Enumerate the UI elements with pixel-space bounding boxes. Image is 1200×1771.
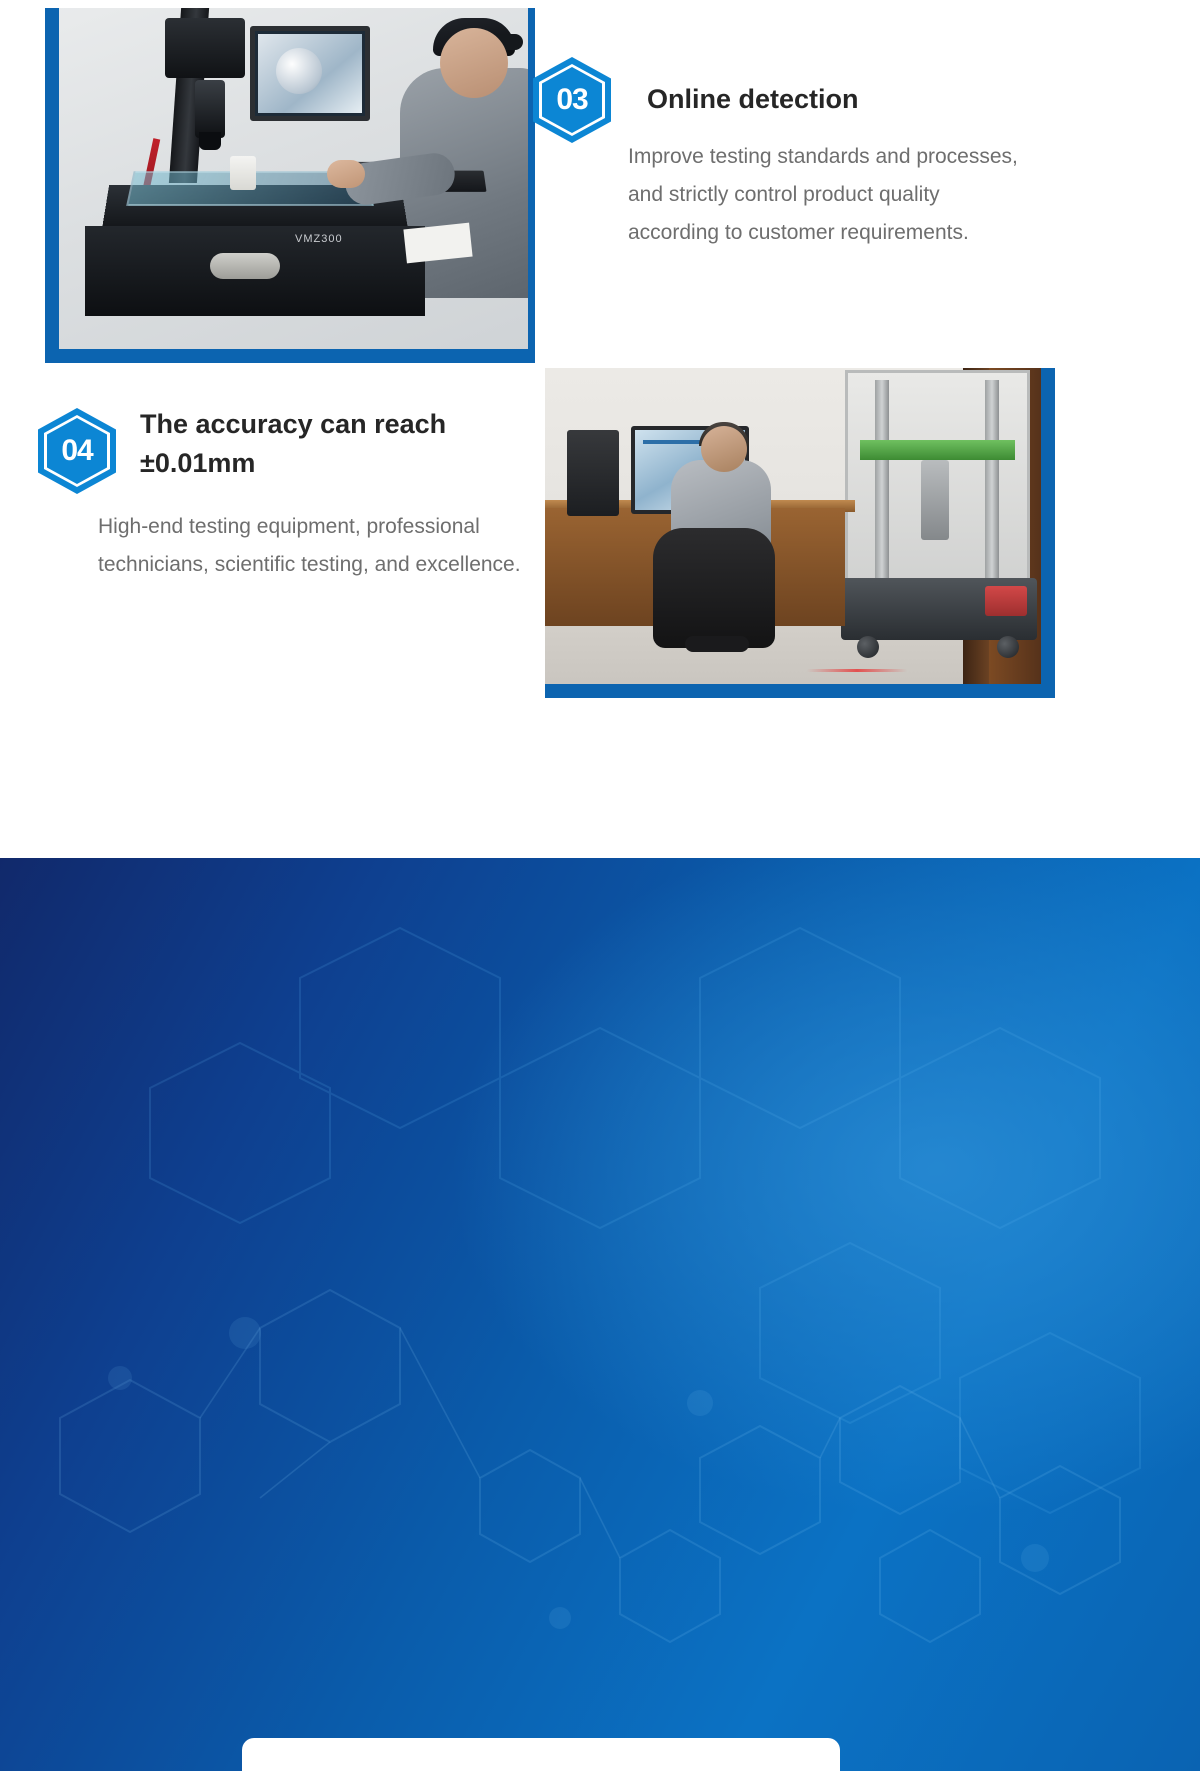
features-section: VMZ300 03 Online detection Improve testi… [0,0,1200,858]
machine-model-label: VMZ300 [295,233,343,245]
feature-badge-03: 03 [533,57,611,143]
scope-of-services-section: Scope of services [0,858,1200,1771]
photo-frame-bottom-bar [45,349,535,363]
photo-accuracy-testing [545,368,1055,698]
photo-frame-right-bar [1041,368,1055,698]
photo-frame-bottom-bar [545,684,1055,698]
photo-online-detection: VMZ300 [45,8,535,363]
photo-accuracy-testing-image [545,368,1045,688]
feature-title-04: The accuracy can reach ±0.01mm [140,405,520,483]
feature-title-03: Online detection [647,80,1047,119]
photo-frame-left-bar [45,8,59,363]
photo-online-detection-image: VMZ300 [45,8,528,352]
scope-banner-card: Scope of services [242,1738,840,1771]
feature-badge-04: 04 [38,408,116,494]
hexagon-pattern-background [0,858,1200,1771]
feature-body-03: Improve testing standards and processes,… [628,138,1018,253]
scope-banner-title: Scope of services [324,1767,759,1771]
feature-badge-04-number: 04 [38,408,116,494]
feature-body-04: High-end testing equipment, professional… [98,508,528,584]
feature-badge-03-number: 03 [533,57,611,143]
